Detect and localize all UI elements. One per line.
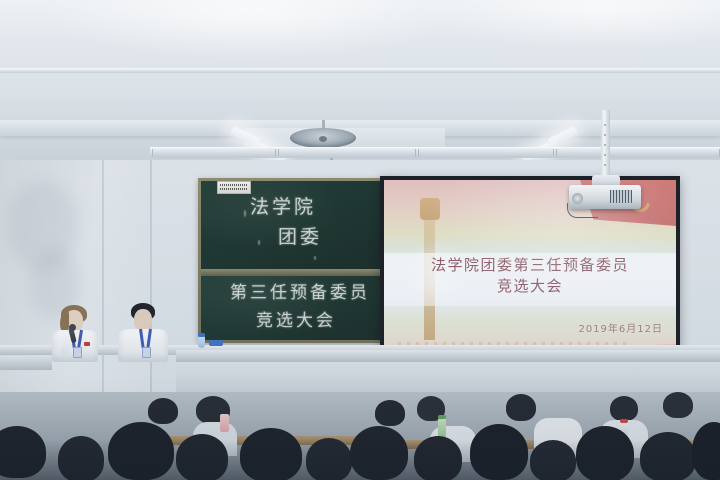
host-right-head [134,309,152,331]
blackboard: 法学院 团委 第三任预备委员 竞选大会 [198,178,398,343]
curtain-track-seg-1 [152,149,276,156]
audience-bottle-green-cap [438,415,446,419]
desk-bottle [198,336,205,348]
audience-bottle-red-cap [620,419,628,423]
blackboard-divider [201,269,395,276]
audience-foreground-shade [0,440,720,480]
audience-area [0,392,720,480]
audience-head-back-1 [148,398,178,424]
host-left-pin-icon [84,342,90,346]
host-left-hair-side [60,312,69,332]
left-side-shelf [0,356,52,370]
chalk-line-3: 第三任预备委员 [230,278,370,303]
chalk-dust-b [258,240,260,245]
chalk-dust-c [314,256,316,260]
curtain-track-seg-2 [278,149,416,156]
chalk-line-1: 法学院 [250,192,316,219]
host-right-badge [142,347,151,358]
chalk-dust-a [244,210,246,217]
projector-cable [567,203,598,218]
chalk-line-4: 竞选大会 [256,306,336,331]
curtain-track-seg-3 [418,149,554,156]
chalk-line-2: 团委 [278,222,322,249]
audience-head-back-6 [610,396,638,421]
classroom-photo: 法学院 团委 第三任预备委员 竞选大会 法学院团委第三任预备委员 竞选大会 20… [0,0,720,480]
microphone-head-icon [69,324,76,331]
wall-seam-center [150,160,152,405]
audience-bottle-green [438,418,446,438]
ceiling-fan-left [290,128,356,148]
wall-seam-left [102,160,104,405]
audience-cup [220,414,229,432]
desk-bottle-cap [198,333,205,337]
audience-head-back-3 [375,400,405,426]
audience-head-back-5 [506,394,536,421]
host-left-badge [73,347,82,358]
desk-box-item [209,340,223,346]
audience-head-back-7 [663,392,693,418]
projector-mount-pole [601,110,610,178]
blackboard-notice-sticker [217,181,251,194]
projector-port-panel [610,190,632,203]
curtain-track-seg-4 [556,149,720,156]
